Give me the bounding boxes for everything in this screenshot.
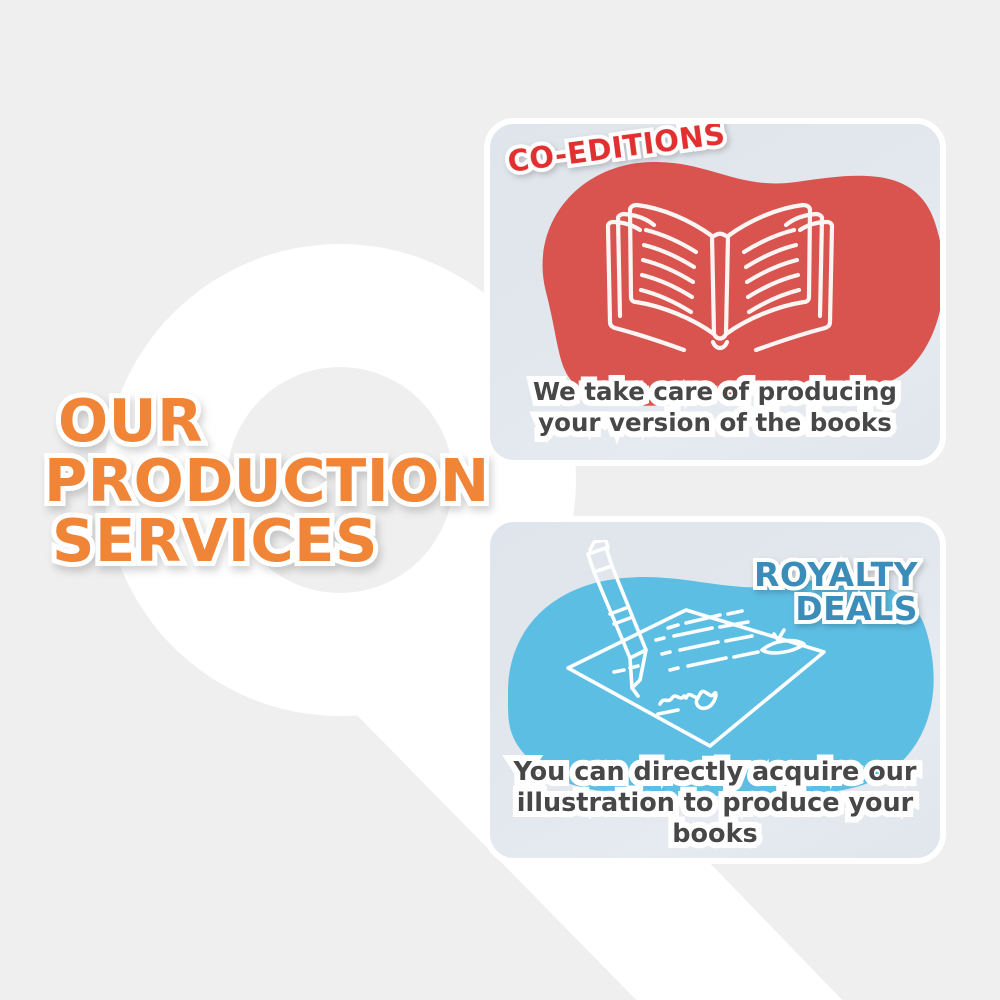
card-co-editions-caption: We take care of producing your version o… bbox=[510, 376, 920, 438]
page-title-line-2: PRODUCTION bbox=[44, 452, 474, 509]
open-book-icon bbox=[600, 182, 840, 362]
card-co-editions-body: CO-EDITIONS We take care of producing yo… bbox=[490, 124, 940, 460]
card-co-editions[interactable]: CO-EDITIONS We take care of producing yo… bbox=[484, 118, 946, 466]
page-title-line-1: OUR bbox=[44, 392, 474, 449]
card-royalty-deals-label: ROYALTY DEALS bbox=[754, 558, 918, 625]
card-royalty-deals-body: ROYALTY DEALS You can directly acquire o… bbox=[490, 522, 940, 858]
page-title: OUR PRODUCTION SERVICES bbox=[44, 392, 474, 572]
card-royalty-deals[interactable]: ROYALTY DEALS You can directly acquire o… bbox=[484, 516, 946, 864]
card-royalty-deals-caption: You can directly acquire our illustratio… bbox=[495, 757, 935, 850]
page-title-line-3: SERVICES bbox=[44, 512, 474, 569]
